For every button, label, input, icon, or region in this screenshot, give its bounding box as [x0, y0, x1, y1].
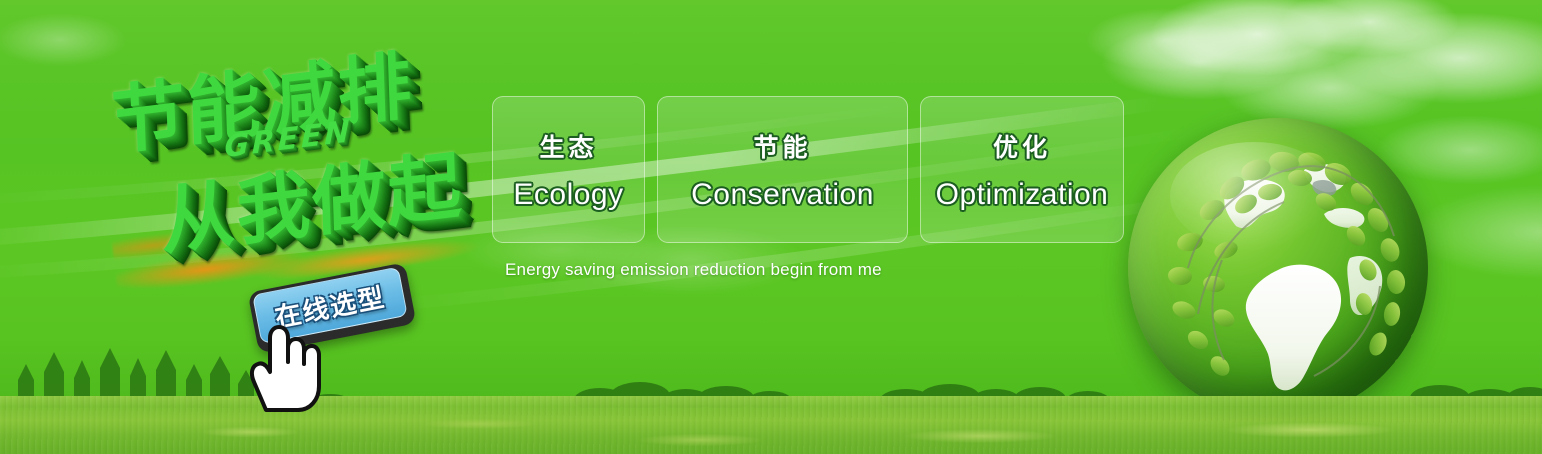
online-selection-button[interactable]: 在线选型 [248, 262, 417, 353]
headline-line-bottom: 从我做起 [159, 125, 464, 269]
headline-line-top: 节能减排 [109, 25, 414, 169]
feature-card-en-label: Ecology [513, 178, 623, 212]
feature-card-conservation[interactable]: 节能 Conservation [657, 96, 908, 243]
globe-highlight [1170, 142, 1338, 250]
feature-card-en-label: Optimization [936, 178, 1109, 212]
headline-accent-word: GREEN [224, 114, 352, 165]
feature-card-list: 生态 Ecology 节能 Conservation 优化 Optimizati… [492, 96, 1124, 243]
feature-card-cn-label: 生态 [539, 128, 597, 164]
leafy-earth-globe [1128, 118, 1428, 418]
feature-card-ecology[interactable]: 生态 Ecology [492, 96, 645, 243]
headline-3d: 节能减排 GREEN 从我做起 [92, 38, 492, 273]
green-energy-banner: 节能减排 GREEN 从我做起 在线选型 生态 Ecology 节能 Conse… [0, 0, 1542, 454]
globe-sphere [1128, 118, 1428, 418]
grass-field [0, 396, 1542, 454]
feature-card-cn-label: 优化 [993, 128, 1051, 164]
banner-subtitle: Energy saving emission reduction begin f… [505, 260, 882, 280]
feature-card-en-label: Conservation [691, 178, 874, 212]
feature-card-cn-label: 节能 [753, 128, 811, 164]
headline-glow [108, 166, 486, 300]
globe-continents [1128, 118, 1428, 418]
feature-card-optimization[interactable]: 优化 Optimization [920, 96, 1124, 243]
